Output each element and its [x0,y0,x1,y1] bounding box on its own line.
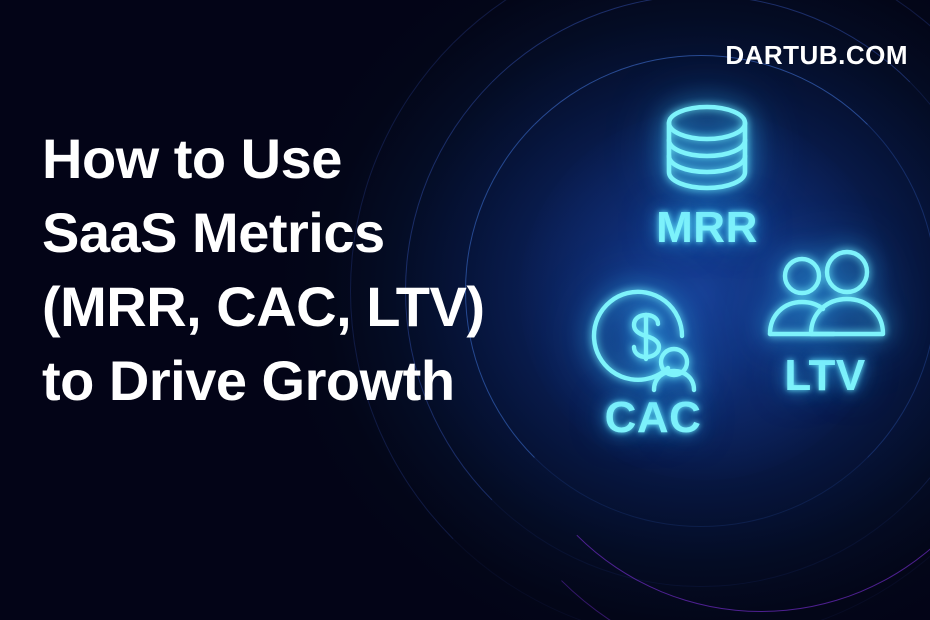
page-title: How to Use SaaS Metrics (MRR, CAC, LTV) … [42,122,512,418]
site-watermark: DARTUB.COM [725,40,908,71]
users-group-icon [762,248,888,352]
title-line-2: SaaS Metrics [42,196,512,270]
dollar-circle-person-icon [590,282,716,394]
metric-cac-label: CAC [605,396,702,440]
metric-mrr: MRR [612,100,802,250]
graphic-canvas: DARTUB.COM How to Use SaaS Metrics (MRR,… [0,0,930,620]
title-line-1: How to Use [42,122,512,196]
metric-ltv: LTV [755,248,895,398]
title-line-4: to Drive Growth [42,344,512,418]
title-line-3: (MRR, CAC, LTV) [42,270,512,344]
metric-cac: CAC [578,282,728,440]
database-icon [651,100,763,200]
metric-mrr-label: MRR [656,206,758,250]
metric-ltv-label: LTV [784,354,865,398]
